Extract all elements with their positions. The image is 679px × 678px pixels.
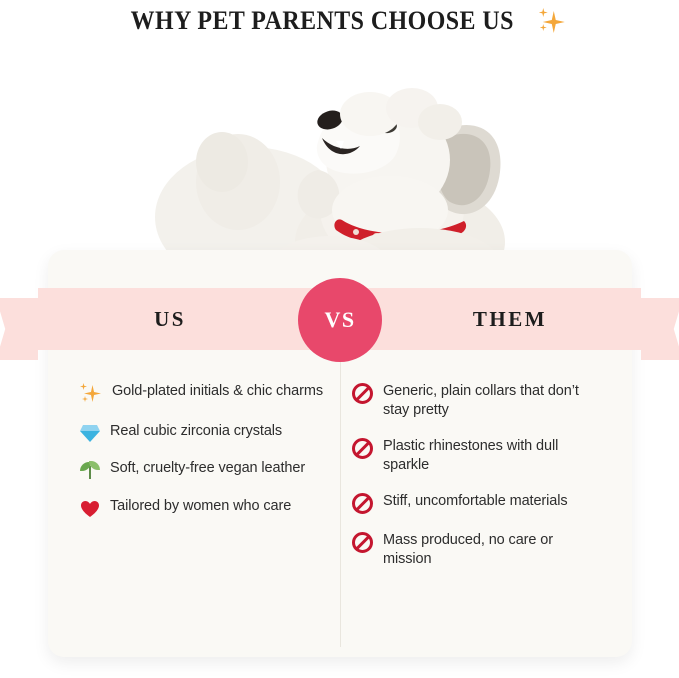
- ribbon-tail-right: [641, 298, 679, 360]
- prohibited-icon: [352, 438, 373, 459]
- us-column: Gold-plated initials & chic charms Real …: [80, 382, 328, 535]
- list-item: Gold-plated initials & chic charms: [80, 382, 328, 405]
- list-item-label: Mass produced, no care or mission: [383, 531, 600, 569]
- gem-icon: [80, 425, 100, 442]
- column-divider: [340, 362, 341, 647]
- page-header: WHY PET PARENTS CHOOSE US: [0, 0, 679, 42]
- list-item-label: Soft, cruelty-free vegan leather: [110, 459, 305, 478]
- prohibited-icon: [352, 383, 373, 404]
- list-item-label: Tailored by women who care: [110, 497, 291, 516]
- prohibited-icon: [352, 532, 373, 553]
- heart-icon: [80, 498, 100, 518]
- list-item: Generic, plain collars that don’t stay p…: [352, 382, 600, 420]
- list-item: Tailored by women who care: [80, 497, 328, 518]
- dog-photo-illustration: COCO: [0, 42, 679, 267]
- list-item-label: Real cubic zirconia crystals: [110, 422, 282, 441]
- hero-photo: COCO: [0, 42, 679, 267]
- list-item: Mass produced, no care or mission: [352, 531, 600, 569]
- list-item: Real cubic zirconia crystals: [80, 422, 328, 442]
- list-item-label: Stiff, uncomfortable materials: [383, 492, 568, 511]
- list-item: Plastic rhinestones with dull sparkle: [352, 437, 600, 475]
- list-item: Stiff, uncomfortable materials: [352, 492, 600, 514]
- list-item-label: Plastic rhinestones with dull sparkle: [383, 437, 600, 475]
- seedling-icon: [80, 460, 100, 480]
- sparkles-icon: [80, 383, 102, 405]
- vs-badge: VS: [298, 278, 382, 362]
- them-column: Generic, plain collars that don’t stay p…: [352, 382, 600, 586]
- sparkles-icon: [539, 8, 565, 34]
- prohibited-icon: [352, 493, 373, 514]
- list-item-label: Generic, plain collars that don’t stay p…: [383, 382, 600, 420]
- list-item-label: Gold-plated initials & chic charms: [112, 382, 323, 401]
- list-item: Soft, cruelty-free vegan leather: [80, 459, 328, 480]
- ribbon-tail-left: [0, 298, 38, 360]
- page-title: WHY PET PARENTS CHOOSE US: [131, 6, 514, 36]
